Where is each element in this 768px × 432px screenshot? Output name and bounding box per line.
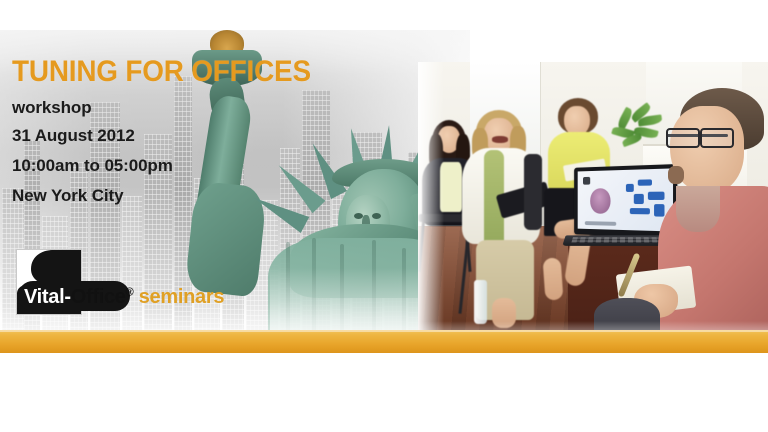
seminar-banner: TUNING FOR OFFICES workshop 31 August 20…: [0, 0, 768, 432]
seminar-group-photo: [418, 62, 768, 337]
detail-line-location: New York City: [12, 186, 123, 206]
water-bottle: [474, 280, 487, 324]
brand-wordmark[interactable]: Vital-Office® seminars: [24, 286, 224, 309]
registered-trademark-icon: ®: [126, 286, 134, 298]
detail-line-workshop: workshop: [12, 98, 92, 118]
white-header-area: [0, 0, 768, 30]
brand-vital: Vital-: [24, 286, 71, 308]
potted-plant: [608, 106, 662, 152]
orange-divider-bar: [0, 330, 768, 353]
white-footer-area: [0, 353, 768, 432]
brand-office: Office: [71, 286, 126, 308]
orange-bar-highlight: [0, 330, 768, 332]
brand-seminars: seminars: [139, 286, 224, 308]
detail-line-date: 31 August 2012: [12, 126, 135, 146]
page-title: TUNING FOR OFFICES: [12, 55, 311, 89]
detail-line-time: 10:00am to 05:00pm: [12, 156, 173, 176]
